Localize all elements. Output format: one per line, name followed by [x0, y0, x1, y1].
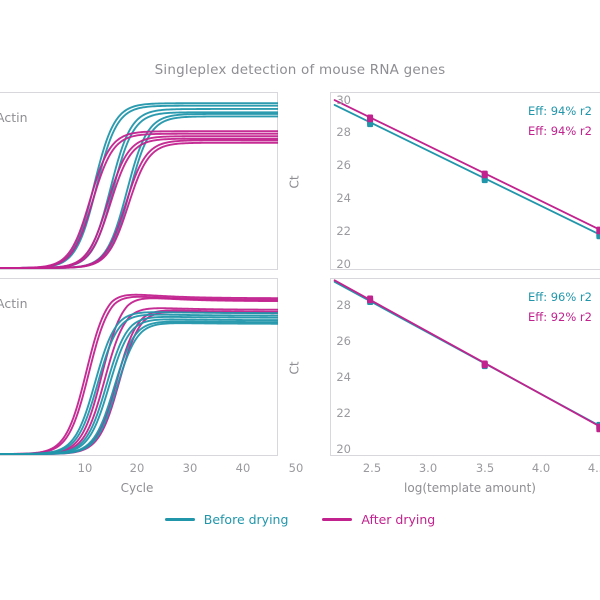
efficiency-note-top-after: Eff: 94% r2 — [528, 124, 592, 138]
standard-curve-top — [330, 92, 600, 270]
ytick-tr-30: 30 — [325, 93, 351, 107]
yaxis-title-bottom-right: Ct — [288, 361, 302, 374]
legend-item-before-drying[interactable]: Before drying — [165, 512, 289, 527]
figure-legend: Before drying After drying — [0, 512, 600, 527]
ytick-br-20: 20 — [325, 442, 351, 456]
efficiency-note-bottom-after: Eff: 92% r2 — [528, 310, 592, 324]
amplification-curves-bottom — [0, 278, 278, 456]
amplification-curves-top — [0, 92, 278, 270]
xtick-br-2-5: 2.5 — [363, 461, 381, 475]
xaxis-title-bottom-right: log(template amount) — [404, 481, 536, 495]
panel-top-right-standard-curve — [330, 92, 600, 270]
ytick-tr-28: 28 — [325, 125, 351, 139]
ytick-br-28: 28 — [325, 298, 351, 312]
gene-label-top-left: Actin — [0, 110, 28, 125]
xtick-br-3-0: 3.0 — [419, 461, 437, 475]
xtick-br-4-5: 4.5 — [588, 461, 600, 475]
figure-title: Singleplex detection of mouse RNA genes — [0, 62, 600, 78]
panel-top-left-amplification — [0, 92, 278, 270]
ytick-tr-20: 20 — [325, 257, 351, 271]
ytick-br-22: 22 — [325, 406, 351, 420]
panel-bottom-right-standard-curve — [330, 278, 600, 456]
efficiency-note-bottom-before: Eff: 96% r2 — [528, 290, 592, 304]
standard-curve-bottom — [330, 278, 600, 456]
xtick-left-10: 10 — [78, 461, 93, 475]
legend-label-before-drying: Before drying — [204, 512, 289, 527]
legend-swatch-after-drying — [322, 518, 352, 520]
xtick-br-3-5: 3.5 — [476, 461, 494, 475]
xtick-br-4-0: 4.0 — [532, 461, 550, 475]
ytick-tr-22: 22 — [325, 224, 351, 238]
xtick-left-20: 20 — [130, 461, 145, 475]
xtick-left-30: 30 — [183, 461, 198, 475]
xtick-left-50: 50 — [289, 461, 304, 475]
panel-bottom-left-amplification — [0, 278, 278, 456]
efficiency-note-top-before: Eff: 94% r2 — [528, 104, 592, 118]
yaxis-title-top-right: Ct — [288, 175, 302, 188]
gene-label-bottom-left: Actin — [0, 296, 28, 311]
ytick-br-26: 26 — [325, 334, 351, 348]
ytick-tr-24: 24 — [325, 191, 351, 205]
ytick-br-24: 24 — [325, 370, 351, 384]
xtick-left-40: 40 — [236, 461, 251, 475]
xaxis-title-left: Cycle — [121, 481, 154, 495]
ytick-tr-26: 26 — [325, 158, 351, 172]
legend-swatch-before-drying — [165, 518, 195, 520]
figure-canvas: Singleplex detection of mouse RNA genes … — [0, 0, 600, 600]
legend-label-after-drying: After drying — [361, 512, 435, 527]
legend-item-after-drying[interactable]: After drying — [322, 512, 435, 527]
